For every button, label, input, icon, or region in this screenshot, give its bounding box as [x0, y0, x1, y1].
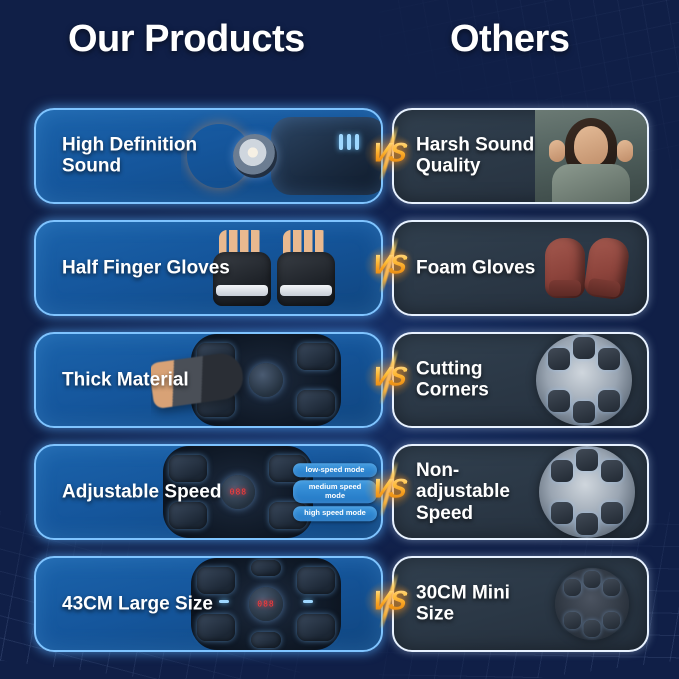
glove-body-shape — [277, 252, 335, 306]
target-pad — [576, 513, 598, 535]
infographic-canvas: Our Products Others High Definition Soun… — [0, 0, 679, 679]
boxing-glove-icon — [545, 238, 585, 298]
competitor-label: Cutting Corners — [416, 359, 551, 402]
target-pad — [603, 579, 620, 596]
target-pad — [603, 612, 620, 629]
competitor-card[interactable]: Non-adjustable Speed — [392, 444, 649, 540]
column-headings: Our Products Others — [0, 18, 679, 80]
comparison-rows: High Definition Sound VS Harsh Sound Qua… — [0, 102, 679, 662]
competitor-label: Non-adjustable Speed — [416, 460, 551, 524]
target-pad — [601, 460, 623, 482]
speed-badge-high[interactable]: high speed mode — [293, 506, 377, 520]
vs-badge: VS — [366, 348, 412, 406]
target-pad — [573, 401, 595, 423]
our-product-card[interactable]: Half Finger Gloves — [34, 220, 383, 316]
target-pad — [551, 460, 573, 482]
led-bar — [339, 134, 343, 150]
heading-others: Others — [450, 18, 569, 61]
wrist-strap-shape — [216, 285, 268, 296]
speed-badge-low[interactable]: low-speed mode — [293, 463, 377, 477]
target-pad — [297, 614, 335, 641]
competitor-image-30cm-mini — [537, 558, 647, 650]
competitor-label: 30CM Mini Size — [416, 583, 551, 626]
wrist-strap-shape — [280, 285, 332, 296]
vs-badge: VS — [366, 460, 412, 518]
competitor-label: Harsh Sound Quality — [416, 135, 551, 178]
vs-label: VS — [369, 362, 408, 393]
target-pad — [584, 571, 601, 588]
heading-our-products: Our Products — [68, 18, 305, 61]
target-pad — [197, 614, 235, 641]
vs-label: VS — [369, 138, 408, 169]
competitor-image-foam-gloves — [535, 222, 647, 314]
target-pad — [169, 502, 207, 529]
target-pad — [584, 620, 601, 637]
our-product-label: Half Finger Gloves — [62, 257, 230, 278]
our-product-card[interactable]: Thick Material — [34, 332, 383, 428]
competitor-board-icon — [555, 568, 629, 640]
competitor-card[interactable]: Foam Gloves — [392, 220, 649, 316]
led-bar — [347, 134, 351, 150]
half-finger-glove-icon — [277, 230, 335, 306]
led-bar — [219, 600, 229, 603]
comparison-row: Half Finger Gloves VS Foam Gloves — [0, 214, 679, 316]
competitor-label: Foam Gloves — [416, 257, 535, 278]
vs-label: VS — [369, 586, 408, 617]
target-pad — [297, 567, 335, 594]
our-product-label: 43CM Large Size — [62, 593, 213, 614]
boxing-glove-icon — [583, 236, 631, 301]
target-pad — [551, 502, 573, 524]
target-pad — [197, 567, 235, 594]
our-product-card[interactable]: High Definition Sound — [34, 108, 383, 204]
hand-shape — [617, 140, 633, 162]
competitor-card[interactable]: Cutting Corners — [392, 332, 649, 428]
target-pad — [297, 343, 335, 370]
our-product-label: Thick Material — [62, 369, 189, 390]
target-pad — [169, 455, 207, 482]
led-display: 088 — [257, 600, 274, 609]
target-pad — [573, 337, 595, 359]
our-product-card[interactable]: 088 low-speed mode medium speed mode hig… — [34, 444, 383, 540]
torso-shape — [552, 164, 630, 202]
target-pad — [297, 390, 335, 417]
comparison-row: 088 low-speed mode medium speed mode hig… — [0, 438, 679, 540]
competitor-board-icon — [539, 446, 635, 538]
target-pad — [564, 612, 581, 629]
target-pad — [576, 449, 598, 471]
hand-shape — [549, 140, 565, 162]
competitor-card[interactable]: Harsh Sound Quality — [392, 108, 649, 204]
vs-badge: VS — [366, 572, 412, 630]
vs-label: VS — [369, 474, 408, 505]
comparison-row: Thick Material VS — [0, 326, 679, 428]
target-pad — [548, 348, 570, 370]
vs-badge: VS — [366, 236, 412, 294]
our-product-label: Adjustable Speed — [62, 481, 221, 502]
led-bar — [303, 600, 313, 603]
face-shape — [574, 126, 608, 166]
target-pad — [601, 502, 623, 524]
competitor-image-harsh-sound — [535, 110, 647, 202]
led-bar — [355, 134, 359, 150]
target-pad — [548, 390, 570, 412]
vs-label: VS — [369, 250, 408, 281]
target-pad — [598, 390, 620, 412]
competitor-card[interactable]: 30CM Mini Size — [392, 556, 649, 652]
comparison-row: High Definition Sound VS Harsh Sound Qua… — [0, 102, 679, 204]
target-pad — [251, 560, 281, 576]
led-display: 088 — [230, 488, 247, 497]
our-product-label: High Definition Sound — [62, 135, 242, 178]
target-pad — [564, 579, 581, 596]
boxing-machine-icon: 088 — [191, 558, 341, 650]
target-pad — [251, 632, 281, 648]
vs-badge: VS — [366, 124, 412, 182]
our-product-card[interactable]: 088 43CM Large Size — [34, 556, 383, 652]
target-pad — [598, 348, 620, 370]
comparison-row: 088 43CM Large Size VS — [0, 550, 679, 652]
